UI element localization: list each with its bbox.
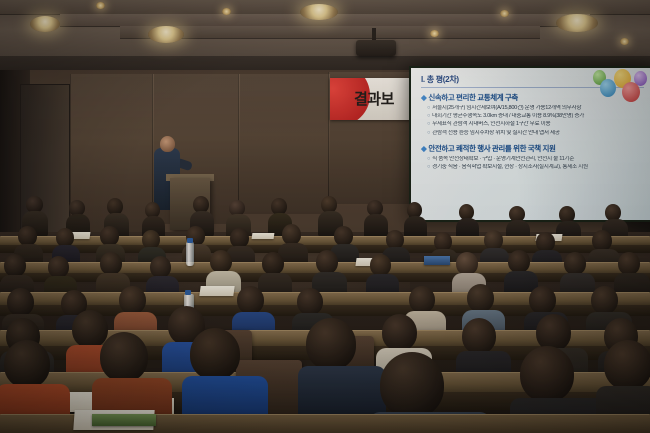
head: [72, 310, 108, 348]
bullet-icon: ○: [427, 164, 430, 170]
head: [4, 254, 26, 277]
wall-panel: [238, 74, 330, 214]
slide-section-heading-text: 신속하고 편리한 교통체계 구축: [428, 93, 518, 102]
bullet-icon: ○: [427, 105, 430, 111]
head: [564, 252, 586, 275]
bullet-icon: ○: [427, 113, 430, 119]
slide-bullet-text: 서울시(25개구) 임시간제보여(A/15,800건) 운영 가용12개역 의무…: [432, 105, 581, 111]
slide-bullet: ○경기중 식음 · 음식학업 확보시설, 현장 · 상시조사(실시계교), 통제…: [427, 164, 644, 171]
head: [520, 346, 574, 402]
slide-section-heading-text: 안전하고 쾌적한 행사 관리를 위한 국책 지원: [428, 144, 555, 153]
head: [467, 284, 494, 312]
bullet-icon: ○: [427, 130, 430, 136]
downlight: [96, 2, 105, 9]
head: [462, 318, 496, 354]
banner-text: 결과보: [354, 88, 394, 109]
slide-section-heading: ◆안전하고 쾌적한 행사 관리를 위한 국책 지원: [421, 143, 644, 154]
downlight: [430, 30, 439, 37]
head: [484, 230, 503, 250]
head: [306, 318, 356, 370]
slide-bullet: ○무제표식 관람객 시내버스, 인천지하철 1구간 무료 이용: [427, 121, 644, 128]
head: [210, 250, 232, 273]
slide: I. 총 평(2차) ◆신속하고 편리한 교통체계 구축 ○서울시(25개구) …: [411, 68, 650, 220]
handout-papers: [252, 233, 275, 239]
head: [18, 226, 37, 246]
chandelier: [30, 16, 60, 32]
photo-scene: 결과보 I. 총 평(2차) ◆신속하고 편리한 교통체계 구축 ○서울시(25…: [0, 0, 650, 433]
slide-bullet-text: 관람객 전용 환승 임시주차장 위치 및 실시간 안내 앱서 제공: [432, 130, 560, 136]
head: [297, 288, 323, 315]
head: [334, 226, 353, 246]
head: [591, 286, 618, 314]
head: [190, 328, 240, 380]
head: [382, 314, 417, 351]
balloon-cluster-decoration: [592, 69, 650, 113]
head: [4, 340, 50, 388]
slide-bullet: ○관람객 전용 환승 임시주차장 위치 및 실시간 안내 앱서 제공: [427, 130, 644, 137]
presenter-head: [160, 136, 175, 152]
chandelier: [300, 4, 338, 20]
head: [618, 252, 640, 275]
head: [119, 286, 146, 314]
projection-screen: I. 총 평(2차) ◆신속하고 편리한 교통체계 구축 ○서울시(25개구) …: [409, 66, 650, 222]
head: [100, 252, 122, 275]
blue-booklet: [424, 256, 450, 265]
head: [316, 250, 338, 274]
balloon: [600, 79, 616, 97]
chandelier: [148, 26, 184, 43]
diamond-bullet-icon: ◆: [421, 93, 426, 102]
bottle-cap: [187, 238, 193, 243]
head: [409, 286, 435, 313]
head: [262, 252, 284, 275]
slide-bullet-text: 식 품목 안전상태확보 · 구입 · 운영기계안전관리, 안전시 불 11기준: [432, 156, 574, 162]
head: [237, 286, 264, 314]
downlight: [500, 10, 509, 17]
head: [150, 256, 171, 278]
head: [380, 352, 444, 418]
head: [370, 254, 391, 276]
slide-bullet: ○식 품목 안전상태확보 · 구입 · 운영기계안전관리, 안전시 불 11기준: [427, 156, 644, 163]
bullet-icon: ○: [427, 121, 430, 127]
slide-bullet-text: 대회기간 평균주행속도 3.0km 증대 / 대중교통 이용 8.9%(38만명…: [432, 113, 584, 119]
head: [456, 252, 478, 275]
head: [282, 224, 301, 245]
ceiling-projector: [356, 40, 396, 56]
head: [100, 226, 119, 246]
head: [7, 288, 34, 316]
slide-bullet-text: 무제표식 관람객 시내버스, 인천지하철 1구간 무료 이용: [432, 121, 550, 127]
green-booklet: [92, 414, 156, 426]
head: [536, 232, 555, 252]
head: [100, 332, 148, 382]
head: [508, 250, 530, 273]
head: [592, 230, 612, 251]
bullet-icon: ○: [427, 156, 430, 162]
chandelier: [556, 14, 598, 32]
downlight: [222, 8, 231, 15]
slide-bullet-text: 경기중 식음 · 음식학업 확보시설, 현장 · 상시조사(실시계교), 통제조…: [432, 164, 588, 170]
head: [230, 228, 249, 248]
head: [48, 256, 69, 278]
handout-papers: [199, 286, 234, 296]
water-bottle: [186, 242, 194, 266]
bottle-cap: [185, 290, 191, 295]
balloon: [622, 82, 640, 102]
downlight: [620, 38, 629, 45]
diamond-bullet-icon: ◆: [421, 144, 426, 153]
slide-bullet: ○대회기간 평균주행속도 3.0km 증대 / 대중교통 이용 8.9%(38만…: [427, 113, 644, 120]
head: [529, 286, 556, 314]
head: [604, 340, 650, 390]
